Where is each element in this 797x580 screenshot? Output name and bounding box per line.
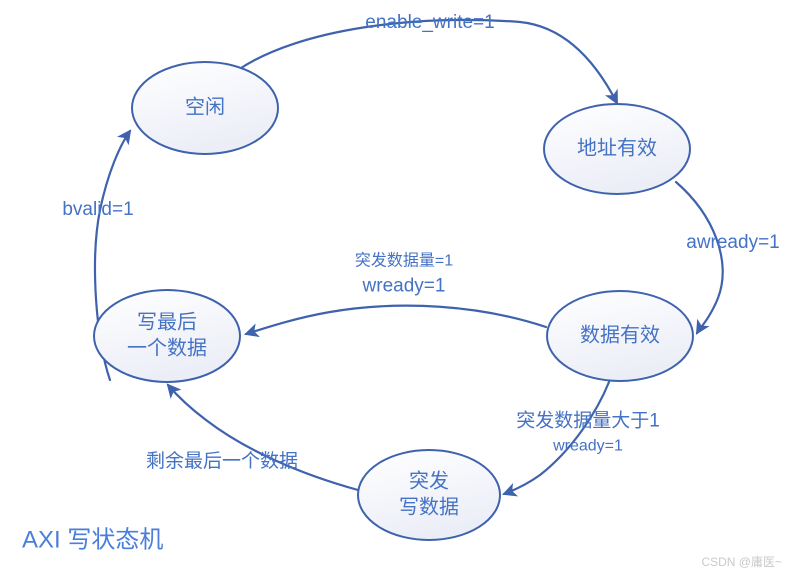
- state-burst-write-shape: [358, 450, 500, 540]
- csdn-watermark: CSDN @庸医~: [701, 554, 782, 569]
- transition-write-last-to-idle-label: bvalid=1: [62, 199, 133, 220]
- fsm-diagram: 空闲地址有效数据有效突发写数据写最后一个数据 enable_write=1awr…: [0, 0, 797, 580]
- state-burst-write-label: 突发: [409, 469, 449, 492]
- transition-write-last-to-idle-label-line: bvalid=1: [62, 199, 133, 220]
- transition-address-valid-to-data-valid-label: awready=1: [686, 232, 779, 253]
- transition-data-valid-to-burst-write-label-line: wready=1: [552, 438, 623, 455]
- transition-burst-write-to-write-last: [168, 385, 358, 490]
- state-idle[interactable]: 空闲: [132, 62, 278, 154]
- state-address-valid[interactable]: 地址有效: [544, 104, 690, 194]
- transition-idle-to-address-valid-label-line: enable_write=1: [365, 12, 494, 33]
- transition-data-valid-to-write-last: [246, 306, 546, 334]
- state-write-last-data[interactable]: 写最后一个数据: [94, 290, 240, 382]
- state-burst-write-label: 写数据: [399, 495, 459, 518]
- transition-data-valid-to-write-last-label: 突发数据量=1wready=1: [355, 252, 453, 297]
- transition-address-valid-to-data-valid-label-line: awready=1: [686, 232, 779, 253]
- transition-burst-write-to-write-last-label: 剩余最后一个数据: [146, 450, 298, 472]
- transition-data-valid-to-burst-write-label-line: 突发数据量大于1: [516, 410, 660, 432]
- state-write-last-data-shape: [94, 290, 240, 382]
- state-data-valid[interactable]: 数据有效: [547, 291, 693, 381]
- transition-burst-write-to-write-last-label-line: 剩余最后一个数据: [146, 450, 298, 472]
- state-write-last-data-label: 一个数据: [127, 336, 207, 359]
- state-address-valid-label: 地址有效: [577, 136, 657, 159]
- state-idle-label: 空闲: [185, 95, 225, 118]
- diagram-title: AXI 写状态机: [22, 526, 163, 553]
- transition-idle-to-address-valid-label: enable_write=1: [365, 12, 494, 33]
- state-data-valid-label: 数据有效: [580, 323, 660, 346]
- state-write-last-data-label: 写最后: [137, 310, 197, 333]
- fsm-canvas: 空闲地址有效数据有效突发写数据写最后一个数据 enable_write=1awr…: [0, 0, 797, 580]
- transition-address-valid-to-data-valid: [676, 182, 723, 333]
- transition-data-valid-to-write-last-label-line: 突发数据量=1: [355, 252, 453, 270]
- transition-data-valid-to-burst-write-label: 突发数据量大于1wready=1: [516, 410, 660, 455]
- transition-data-valid-to-write-last-label-line: wready=1: [362, 276, 446, 297]
- state-burst-write[interactable]: 突发写数据: [358, 450, 500, 540]
